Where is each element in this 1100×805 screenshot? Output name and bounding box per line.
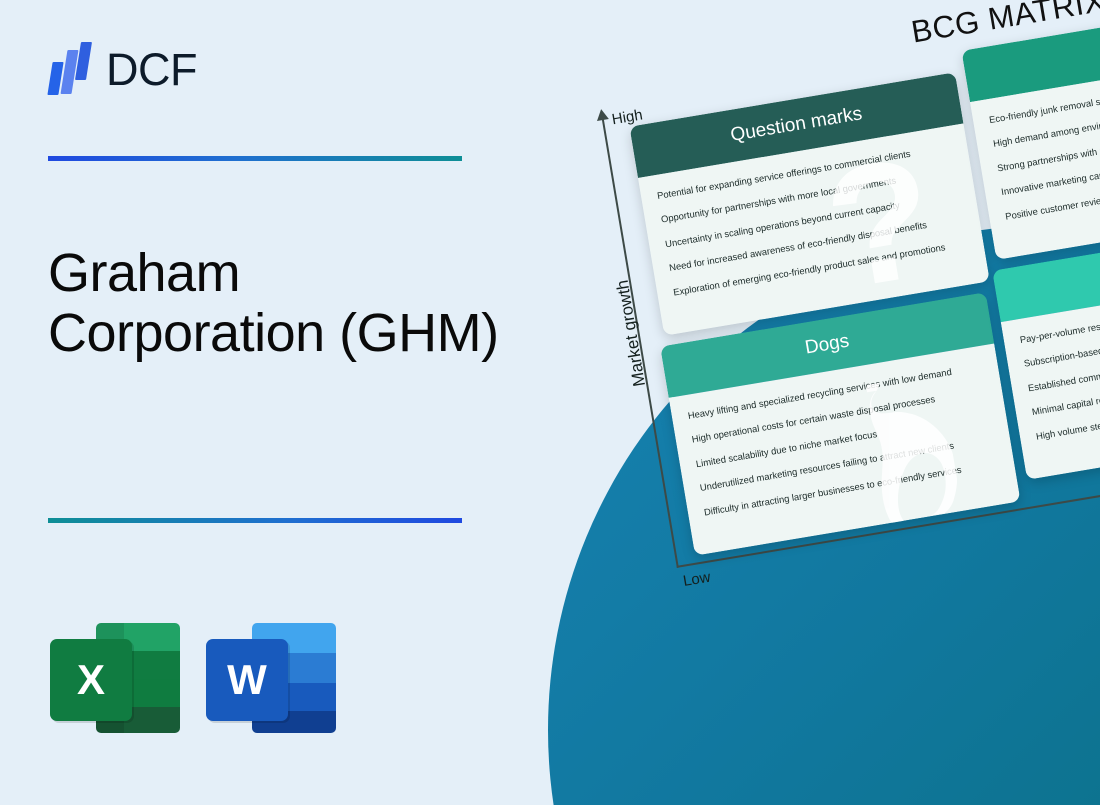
divider-top bbox=[48, 156, 462, 161]
slide-canvas: DCF Graham Corporation (GHM) X bbox=[0, 0, 1100, 805]
brand-name: DCF bbox=[106, 47, 197, 92]
bcg-matrix-illustration: BCG MATRIX High Low Market growth Market… bbox=[500, 0, 1100, 805]
export-format-icons: X W bbox=[50, 617, 336, 739]
dcf-bars-logo-icon bbox=[48, 40, 92, 98]
divider-bottom bbox=[48, 518, 462, 523]
excel-glyph: X bbox=[50, 639, 132, 721]
brand-logo[interactable]: DCF bbox=[48, 38, 197, 100]
word-file-icon[interactable]: W bbox=[206, 617, 336, 739]
y-axis-label: Market growth bbox=[613, 278, 651, 388]
brand-panel: DCF Graham Corporation (GHM) X bbox=[0, 0, 560, 805]
y-axis-arrow-icon bbox=[595, 108, 609, 121]
quadrant-question-marks[interactable]: Question marks ? Potential for expanding… bbox=[629, 72, 989, 336]
word-glyph: W bbox=[206, 639, 288, 721]
excel-file-icon[interactable]: X bbox=[50, 617, 180, 739]
bcg-matrix: BCG MATRIX High Low Market growth Market… bbox=[569, 0, 1100, 544]
logo-bar-3 bbox=[75, 42, 92, 80]
page-title: Graham Corporation (GHM) bbox=[48, 243, 518, 364]
